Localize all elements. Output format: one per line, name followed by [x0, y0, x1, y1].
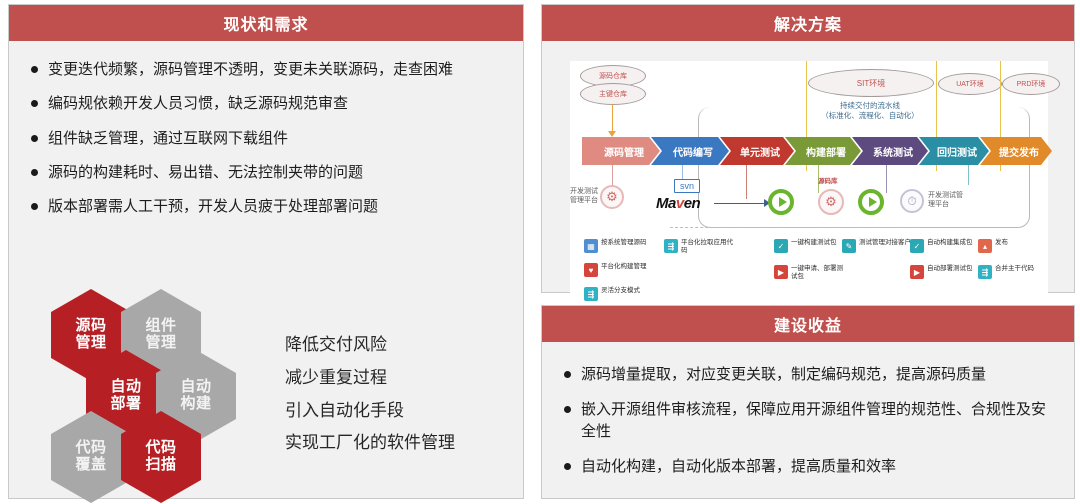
panel-current-body: 变更迭代频繁，源码管理不透明，变更未关联源码，走查困难 编码规依赖开发人员习惯，… [9, 41, 523, 217]
goal-text: 减少重复过程 [285, 362, 515, 395]
stage-source-management[interactable]: 源码管理 [582, 137, 660, 165]
ellipse-label: 源码仓库 [599, 71, 627, 81]
legend-label: 灵活分支模式 [601, 287, 640, 295]
bullet-dot-icon [564, 371, 571, 378]
svn-logo: svn [674, 179, 700, 193]
list-item-text: 变更迭代频繁，源码管理不透明，变更未关联源码，走查困难 [48, 59, 453, 80]
panel-current-situation: 现状和需求 变更迭代频繁，源码管理不透明，变更未关联源码，走查困难 编码规依赖开… [8, 4, 524, 499]
bullet-dot-icon [31, 169, 38, 176]
ellipse-label: SIT环境 [857, 78, 885, 89]
hexagon-label-line1: 源码 [75, 318, 106, 335]
legend-item-deploy-test-pkg: ▶ 一键申请、部署测试包 [774, 265, 848, 281]
legend-label: 按系统管理源码 [601, 239, 647, 247]
page-title-current: 现状和需求 [223, 11, 308, 35]
bullet-dot-icon [31, 100, 38, 107]
list-item-text: 版本部署需人工干预，开发人员疲于处理部署问题 [48, 196, 378, 217]
panel-current-header: 现状和需求 [9, 5, 523, 41]
stage-code-writing[interactable]: 代码编写 [651, 137, 729, 165]
legend-item-build-test-pkg: ✓ 一键构建测试包 [774, 239, 848, 253]
list-item-text: 源码增量提取，对应变更关联，制定编码规范，提高源码质量 [581, 364, 986, 385]
goal-text: 实现工厂化的软件管理 [285, 427, 515, 460]
stage-chevron-row: 源码管理 代码编写 单元测试 构建部署 系统测试 回归测试 提交发布 [582, 137, 1043, 165]
stage-unit-test[interactable]: 单元测试 [720, 137, 794, 165]
repo-tag-label: 源码库 [818, 175, 838, 185]
bullet-dot-icon [564, 463, 571, 470]
current-bullet-list: 变更迭代频繁，源码管理不透明，变更未关联源码，走查困难 编码规依赖开发人员习惯，… [9, 41, 523, 217]
connector-line [886, 165, 887, 193]
legend-item-auto-deploy-pkg: ▶ 自动部署测试包 [910, 265, 984, 279]
ellipse-label: 主键仓库 [599, 89, 627, 99]
stage-system-test[interactable]: 系统测试 [852, 137, 928, 165]
list-item: 自动化构建，自动化版本部署，提高质量和效率 [564, 456, 1054, 477]
edit-icon: ✎ [842, 239, 856, 253]
stage-release[interactable]: 提交发布 [980, 137, 1052, 165]
hexagon-label-line2: 扫描 [145, 457, 176, 474]
gear-icon: ⚙ [600, 185, 624, 209]
connector-line [968, 165, 969, 185]
legend-item-build-management: ♥ 平台化构建管理 [584, 263, 658, 277]
pipeline-caption-line2: （标准化、流程化、自动化） [810, 111, 930, 121]
legend-item-auto-build-pkg: ✓ 自动构建集成包 [910, 239, 984, 253]
ellipse-label: PRD环境 [1017, 79, 1046, 89]
pipeline-caption: 持续交付的流水线 （标准化、流程化、自动化） [810, 101, 930, 121]
platform-label-right: 开发测试管理平台 [928, 191, 968, 209]
ellipse-label: UAT环境 [956, 79, 983, 89]
hexagon-label-line1: 自动 [180, 379, 211, 396]
legend-label: 合并主干代码 [995, 265, 1034, 273]
hexagon-label-line1: 自动 [110, 379, 141, 396]
legend-item-manage-source: ▦ 按系统管理源码 [584, 239, 658, 253]
page-title-solution: 解决方案 [774, 11, 842, 35]
hexagon-label-line2: 部署 [110, 396, 141, 413]
goal-text: 引入自动化手段 [285, 395, 515, 428]
maven-logo: Maven [656, 195, 700, 212]
legend-label: 平台化拉取应用代码 [681, 239, 738, 255]
hexagon-label-line1: 代码 [75, 440, 106, 457]
ellipse-primary-repo: 主键仓库 [580, 83, 646, 105]
legend-item-branch-mode: ⇶ 灵活分支模式 [584, 287, 658, 301]
legend-label: 自动部署测试包 [927, 265, 973, 273]
branch-icon: ⇶ [978, 265, 992, 279]
page-title-benefit: 建设收益 [774, 312, 842, 336]
pipeline-caption-line1: 持续交付的流水线 [810, 101, 930, 111]
play-icon: ▶ [774, 265, 788, 279]
panel-benefit-body: 源码增量提取，对应变更关联，制定编码规范，提高源码质量 嵌入开源组件审核流程，保… [542, 342, 1074, 477]
branch-icon: ⇶ [664, 239, 678, 253]
goals-list: 降低交付风险 减少重复过程 引入自动化手段 实现工厂化的软件管理 [285, 329, 515, 460]
list-item: 嵌入开源组件审核流程，保障应用开源组件管理的规范性、合规性及安全性 [564, 399, 1054, 442]
ellipse-uat-env: UAT环境 [938, 73, 1002, 95]
panel-solution-header: 解决方案 [542, 5, 1074, 41]
hexagon-label-line2: 构建 [180, 396, 211, 413]
list-item: 编码规依赖开发人员习惯，缺乏源码规范审查 [31, 93, 503, 114]
list-item-text: 自动化构建，自动化版本部署，提高质量和效率 [581, 456, 896, 477]
play-icon: ▶ [910, 265, 924, 279]
bullet-dot-icon [31, 135, 38, 142]
list-item-text: 嵌入开源组件审核流程，保障应用开源组件管理的规范性、合规性及安全性 [581, 399, 1054, 442]
goal-text: 降低交付风险 [285, 329, 515, 362]
legend-item-release: ▴ 发布 [978, 239, 1052, 253]
play-icon-deploy[interactable] [858, 189, 884, 215]
bullet-dot-icon [31, 203, 38, 210]
legend-label: 自动构建集成包 [927, 239, 973, 247]
hexagon-label-line1: 组件 [145, 318, 176, 335]
legend-item-pull-code: ⇶ 平台化拉取应用代码 [664, 239, 738, 255]
hexagon-label-line2: 覆盖 [75, 457, 106, 474]
feedback-loop-line [670, 227, 920, 229]
pipeline-diagram: 源码仓库 主键仓库 SIT环境 UAT环境 PRD环境 [570, 61, 1048, 293]
ellipse-sit-env: SIT环境 [808, 69, 934, 97]
list-item: 源码增量提取，对应变更关联，制定编码规范，提高源码质量 [564, 364, 1054, 385]
grid-icon: ▦ [584, 239, 598, 253]
package-icon: ✓ [910, 239, 924, 253]
platform-label-left: 开发测试管理平台 [568, 187, 598, 205]
play-icon-build[interactable] [768, 189, 794, 215]
legend-item-merge-trunk: ⇶ 合并主干代码 [978, 265, 1052, 279]
connector-line [746, 165, 747, 199]
list-item-text: 源码的构建耗时、易出错、无法控制夹带的问题 [48, 162, 363, 183]
gauge-icon: ⏱ [900, 189, 924, 213]
stage-regression-test[interactable]: 回归测试 [919, 137, 989, 165]
list-item: 源码的构建耗时、易出错、无法控制夹带的问题 [31, 162, 503, 183]
gear-icon-repo: ⚙ [818, 189, 844, 215]
hexagon-label-line2: 管理 [145, 335, 176, 352]
list-item-text: 编码规依赖开发人员习惯，缺乏源码规范审查 [48, 93, 348, 114]
bullet-dot-icon [31, 66, 38, 73]
list-item: 版本部署需人工干预，开发人员疲于处理部署问题 [31, 196, 503, 217]
connector-line [714, 203, 766, 204]
list-item: 变更迭代频繁，源码管理不透明，变更未关联源码，走查困难 [31, 59, 503, 80]
panel-solution: 解决方案 源码仓库 主键仓库 SIT环境 UAT环境 [541, 4, 1075, 293]
heart-icon: ♥ [584, 263, 598, 277]
rocket-icon: ▴ [978, 239, 992, 253]
legend-label: 测试管理对接客户 [859, 239, 911, 247]
legend-item-test-management: ✎ 测试管理对接客户 [842, 239, 916, 253]
panel-benefit: 建设收益 源码增量提取，对应变更关联，制定编码规范，提高源码质量 嵌入开源组件审… [541, 305, 1075, 499]
legend-label: 一键构建测试包 [791, 239, 837, 247]
ellipse-prd-env: PRD环境 [1002, 73, 1060, 95]
list-item: 组件缺乏管理，通过互联网下载组件 [31, 128, 503, 149]
slide-canvas: 现状和需求 变更迭代频繁，源码管理不透明，变更未关联源码，走查困难 编码规依赖开… [0, 0, 1080, 503]
hexagon-label-line2: 管理 [75, 335, 106, 352]
legend-label: 平台化构建管理 [601, 263, 647, 271]
panel-benefit-header: 建设收益 [542, 306, 1074, 342]
hexagon-label-line1: 代码 [145, 440, 176, 457]
benefit-bullet-list: 源码增量提取，对应变更关联，制定编码规范，提高源码质量 嵌入开源组件审核流程，保… [542, 342, 1074, 477]
list-item-text: 组件缺乏管理，通过互联网下载组件 [48, 128, 288, 149]
branch-icon: ⇶ [584, 287, 598, 301]
legend-label: 一键申请、部署测试包 [791, 265, 848, 281]
stage-build-deploy[interactable]: 构建部署 [785, 137, 861, 165]
legend-label: 发布 [995, 239, 1008, 247]
hexagon-cluster: 源码 管理 组件 管理 自动 部署 自动 构建 代码 覆盖 [43, 289, 253, 504]
connector-line [612, 104, 613, 134]
package-icon: ✓ [774, 239, 788, 253]
bullet-dot-icon [564, 406, 571, 413]
